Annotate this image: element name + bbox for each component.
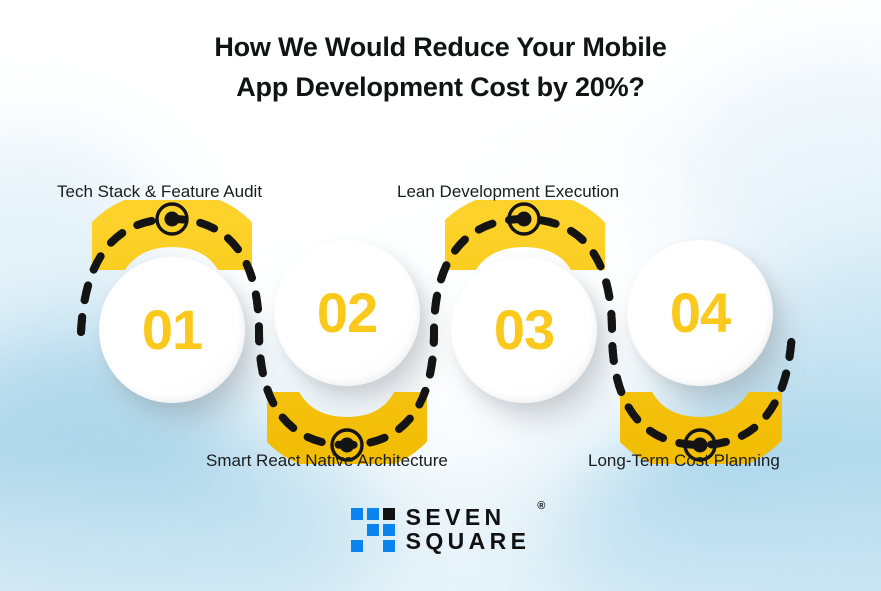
logo-square-4-none bbox=[351, 524, 363, 536]
step-label-2: Smart React Native Architecture bbox=[206, 451, 448, 471]
logo-line-1: SEVEN® bbox=[406, 506, 531, 529]
brand-logo[interactable]: SEVEN® SQUARE bbox=[0, 506, 881, 553]
page-title-line-1: How We Would Reduce Your Mobile bbox=[0, 28, 881, 68]
logo-square-3-black bbox=[383, 508, 395, 520]
step-label-1: Tech Stack & Feature Audit bbox=[57, 182, 262, 202]
logo-line-2: SQUARE bbox=[406, 530, 531, 553]
step-label-3: Lean Development Execution bbox=[397, 182, 619, 202]
page-title: How We Would Reduce Your Mobile App Deve… bbox=[0, 28, 881, 108]
logo-square-5-blue bbox=[367, 524, 379, 536]
logo-line-1-text: SEVEN bbox=[406, 504, 506, 530]
registered-mark-icon: ® bbox=[537, 501, 545, 512]
logo-mark-icon bbox=[351, 508, 395, 552]
logo-square-9-blue bbox=[383, 540, 395, 552]
step-label-4: Long-Term Cost Planning bbox=[588, 451, 780, 471]
logo-square-8-none bbox=[367, 540, 379, 552]
logo-wordmark: SEVEN® SQUARE bbox=[406, 506, 531, 553]
page-title-line-2: App Development Cost by 20%? bbox=[0, 68, 881, 108]
logo-square-2-blue bbox=[367, 508, 379, 520]
logo-square-1-blue bbox=[351, 508, 363, 520]
logo-square-7-blue bbox=[351, 540, 363, 552]
infographic-canvas: How We Would Reduce Your Mobile App Deve… bbox=[0, 0, 881, 591]
logo-square-6-blue bbox=[383, 524, 395, 536]
